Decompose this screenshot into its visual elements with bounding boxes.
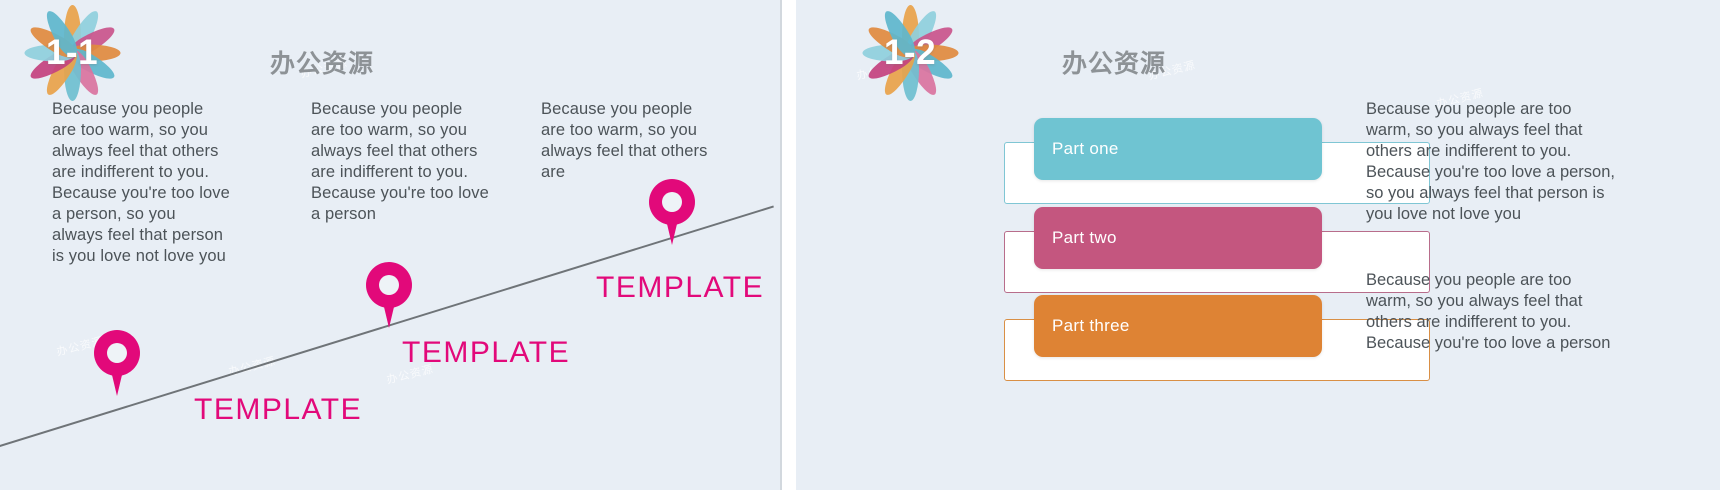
pin-hole: [662, 192, 682, 212]
slide-badge-number: 1-1: [8, 0, 136, 108]
body-column-2: Because you people are too warm, so you …: [311, 99, 489, 225]
page-title-2: 办公资源: [1062, 44, 1166, 80]
page-title-1: 办公资源: [270, 44, 374, 80]
map-pin-1[interactable]: [94, 330, 140, 396]
flower-decoration-2: 1-2: [846, 0, 974, 108]
template-label-1: TEMPLATE: [194, 393, 362, 427]
part-label-three[interactable]: Part three: [1034, 295, 1322, 357]
right-paragraph-2: Because you people are too warm, so you …: [1366, 270, 1618, 354]
pin-hole: [379, 275, 399, 295]
part-label-two[interactable]: Part two: [1034, 207, 1322, 269]
template-label-2: TEMPLATE: [402, 336, 570, 370]
body-column-1: Because you people are too warm, so you …: [52, 99, 230, 267]
flower-decoration-1: 1-1: [8, 0, 136, 108]
map-pin-3[interactable]: [649, 179, 695, 245]
slide-badge-number: 1-2: [846, 0, 974, 108]
template-label-3: TEMPLATE: [596, 271, 764, 305]
map-pin-2[interactable]: [366, 262, 412, 328]
right-paragraph-1: Because you people are too warm, so you …: [1366, 99, 1618, 225]
slide-divider: [782, 0, 796, 490]
slide-panel-1: 办公资源 办公资源 办公资源 办公资源 1-1 办公资源 Because you…: [0, 0, 782, 490]
part-label-one[interactable]: Part one: [1034, 118, 1322, 180]
pin-hole: [107, 343, 127, 363]
slide-canvas: 办公资源 办公资源 办公资源 办公资源 1-1 办公资源 Because you…: [0, 0, 1720, 490]
body-column-3: Because you people are too warm, so you …: [541, 99, 719, 183]
slide-panel-2: 办公资源 办公资源 办公资源 办公资源 1-2 办公资源 Part one: [796, 0, 1720, 490]
